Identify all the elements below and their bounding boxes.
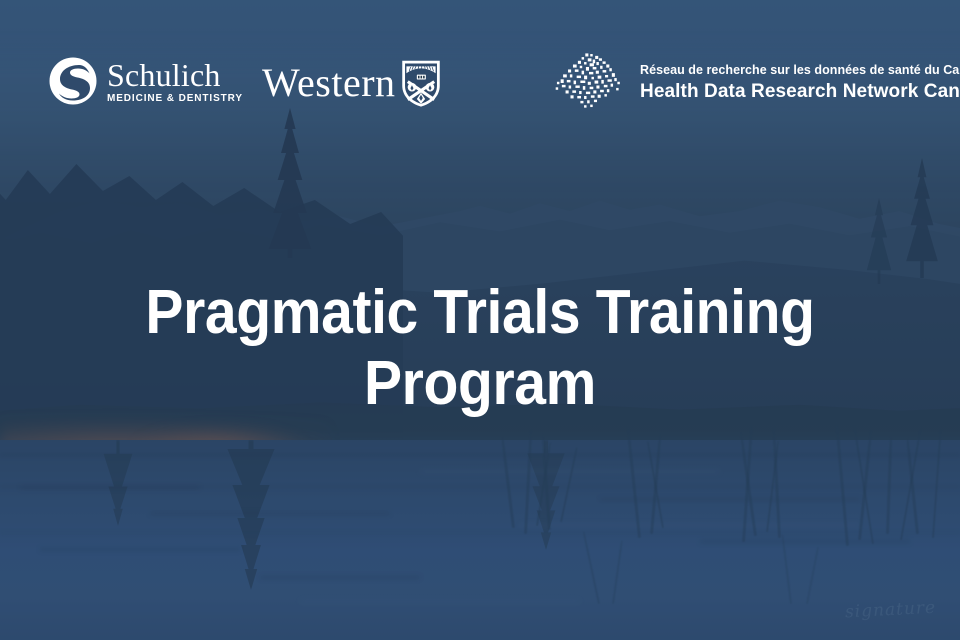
schulich-s-circle-icon <box>48 56 98 106</box>
title-line-1: Pragmatic Trials Training <box>94 278 867 349</box>
logo-bar: Schulich MEDICINE & DENTISTRY Western <box>0 42 960 118</box>
hdrn-name-french: Réseau de recherche sur les données de s… <box>640 63 960 78</box>
canada-map-icon <box>552 52 626 114</box>
logo-hdrn-canada: Réseau de recherche sur les données de s… <box>552 52 960 114</box>
logo-schulich: Schulich MEDICINE & DENTISTRY <box>48 56 243 106</box>
title-slide: signature Schulich MEDICINE & DENTISTRY … <box>0 0 960 640</box>
schulich-name: Schulich <box>107 59 243 91</box>
western-shield-icon <box>400 58 442 108</box>
schulich-subtitle: MEDICINE & DENTISTRY <box>107 94 243 104</box>
schulich-wordmark: Schulich MEDICINE & DENTISTRY <box>107 59 243 104</box>
western-name: Western <box>262 63 396 103</box>
title-line-2: Program <box>94 349 867 420</box>
hdrn-wordmark: Réseau de recherche sur les données de s… <box>640 63 960 103</box>
hdrn-name-english: Health Data Research Network Canada <box>640 81 960 103</box>
page-title: Pragmatic Trials Training Program <box>0 278 960 419</box>
logo-western: Western <box>262 58 442 108</box>
